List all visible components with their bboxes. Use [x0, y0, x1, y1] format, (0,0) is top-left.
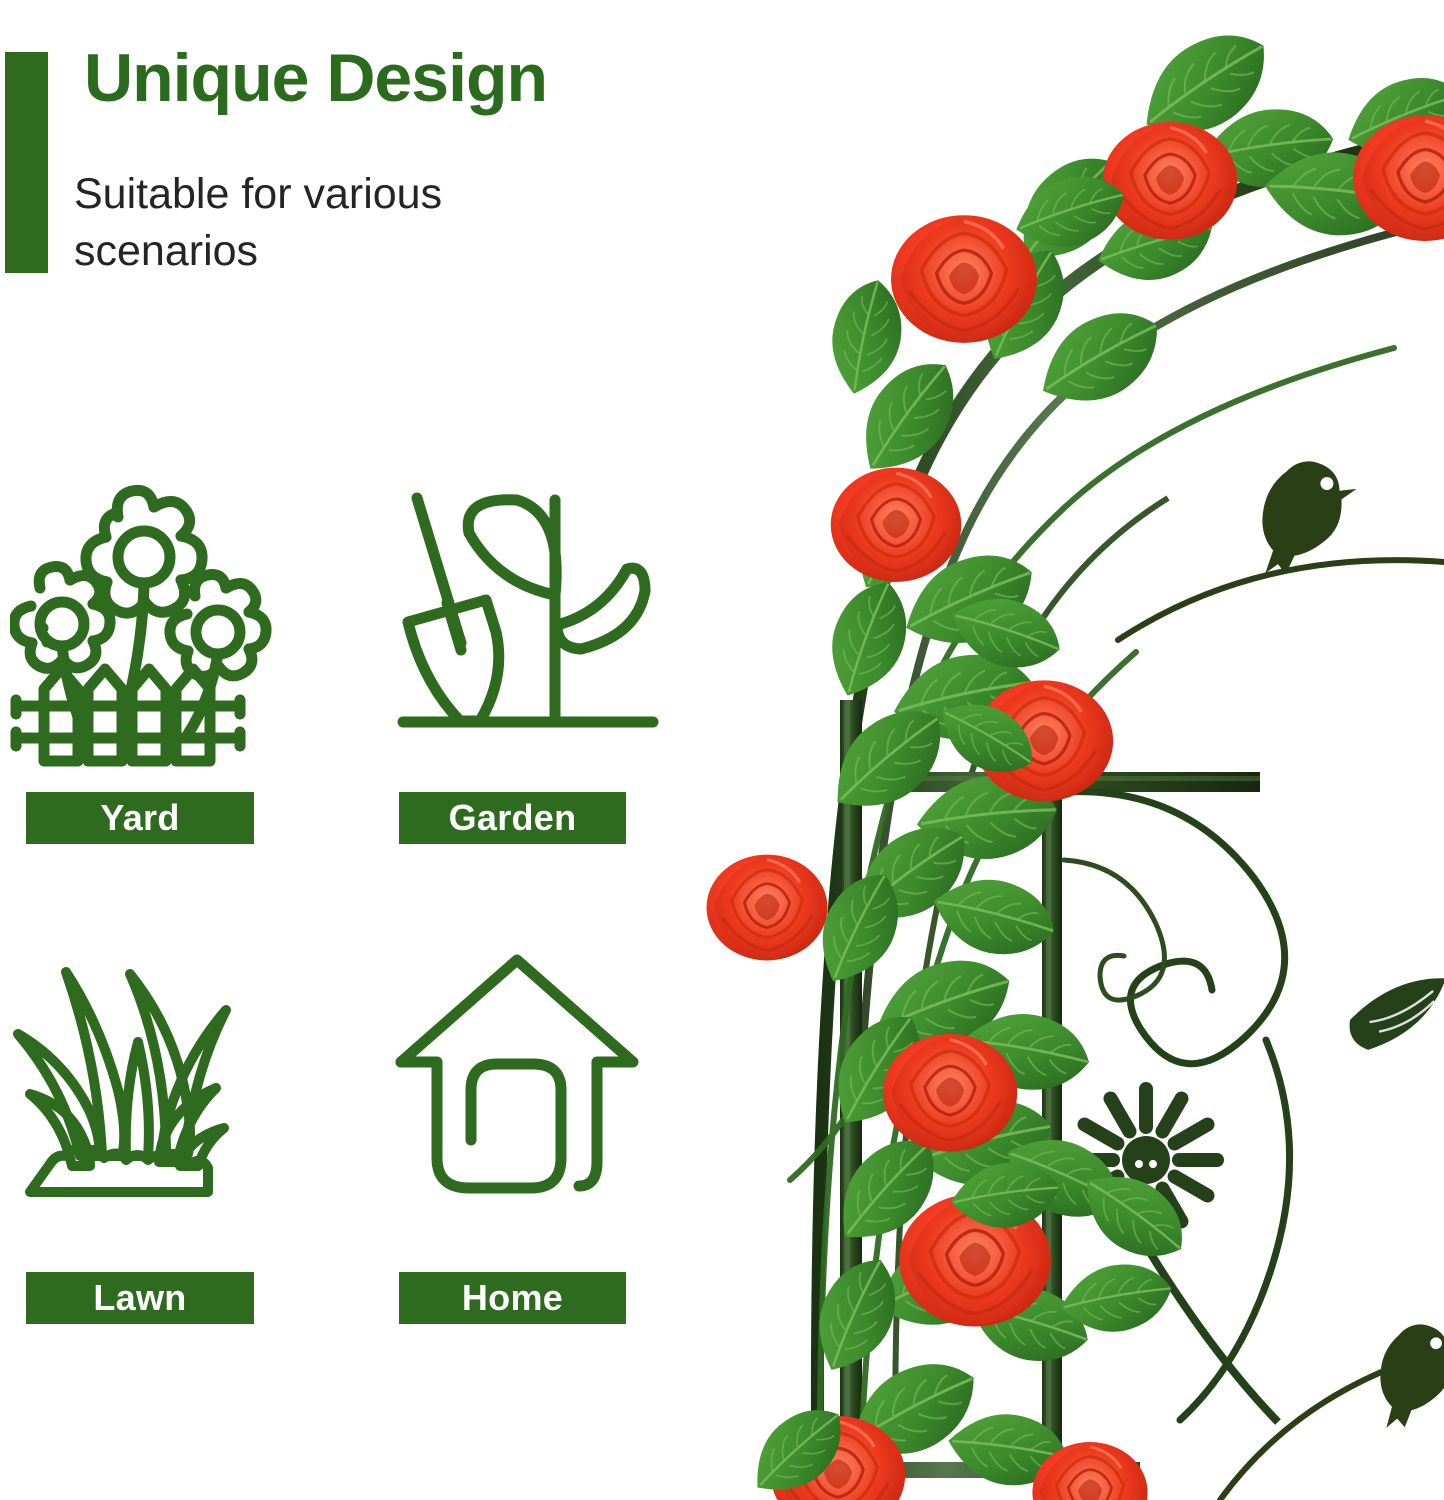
scenario-label-home: Home	[399, 1272, 626, 1324]
page-title: Unique Design	[84, 44, 704, 113]
scenario-label-yard: Yard	[26, 792, 254, 844]
accent-bar	[5, 52, 48, 273]
house-outline-icon	[395, 950, 665, 1250]
infographic-canvas: Unique Design Suitable for various scena…	[0, 0, 1444, 1500]
page-subtitle: Suitable for various scenarios	[74, 166, 634, 280]
scenario-item-garden: Garden	[385, 470, 715, 870]
grass-tuft-icon	[10, 950, 280, 1250]
scenario-label-lawn: Lawn	[26, 1272, 254, 1324]
flowers-fence-icon	[10, 470, 280, 770]
shovel-plant-icon	[395, 470, 665, 770]
scenario-label-garden: Garden	[399, 792, 626, 844]
product-photo	[700, 0, 1444, 1500]
scenario-grid: Yard	[0, 470, 700, 1350]
scenario-item-yard: Yard	[10, 470, 340, 870]
page-subtitle-line-1: Suitable for various	[74, 166, 634, 223]
scenario-item-lawn: Lawn	[10, 950, 340, 1350]
scenario-item-home: Home	[385, 950, 715, 1350]
page-subtitle-line-2: scenarios	[74, 223, 634, 280]
